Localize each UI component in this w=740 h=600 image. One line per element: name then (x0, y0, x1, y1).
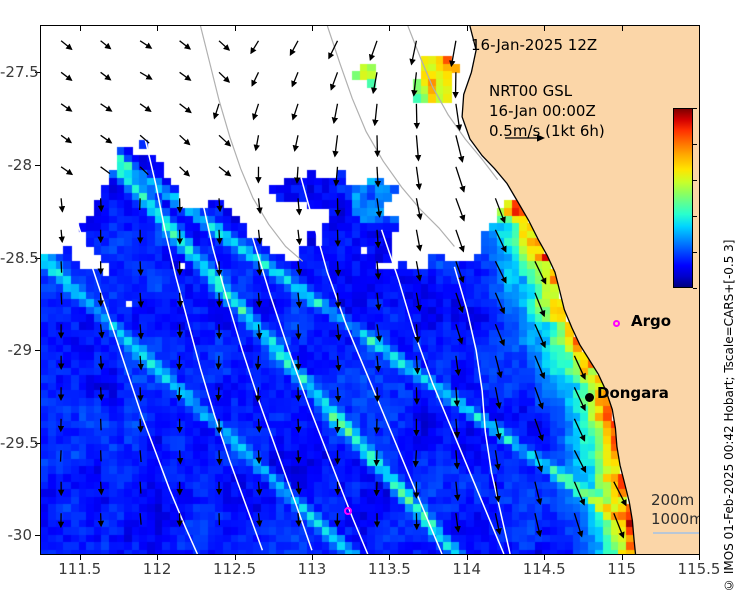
current-vector-arrow (61, 104, 71, 111)
current-vector-arrow (293, 104, 298, 120)
current-vector-arrow (456, 293, 463, 312)
current-vector-arrow (338, 356, 339, 370)
current-vector-arrow (456, 419, 458, 437)
current-vector-arrow (258, 356, 259, 369)
y-axis-label: -29 (0, 341, 32, 359)
current-vector-arrow (574, 419, 584, 441)
colorbar-tick (693, 216, 697, 217)
current-vector-arrow (416, 324, 417, 342)
depth-legend-200m: 200m (651, 491, 694, 510)
x-axis-label: 114.5 (523, 560, 566, 578)
y-axis-label: -28 (0, 156, 32, 174)
current-vector-arrow (298, 198, 299, 214)
y-axis-tick (35, 535, 41, 536)
current-vector-arrow (61, 135, 71, 142)
credit-text: © IMOS 01-Feb-2025 00:42 Hobart; Tscale=… (720, 0, 738, 600)
current-vector-arrow (416, 135, 418, 160)
y-axis-label: -30 (0, 526, 32, 544)
x-axis-label: 114 (452, 560, 481, 578)
x-axis-label: 113.5 (368, 560, 411, 578)
depth-legend-line-shallow (653, 532, 700, 534)
current-vector-arrow (101, 356, 102, 369)
current-vector-arrow (256, 135, 259, 150)
current-vector-arrow (495, 482, 498, 502)
current-vector-arrow (456, 104, 460, 130)
colorbar-tick (693, 108, 697, 109)
current-vector-arrow (456, 356, 459, 375)
current-vector-arrow (416, 198, 420, 219)
current-vector-arrow (412, 41, 417, 64)
current-vector-arrow (140, 41, 151, 48)
current-vector-arrow (219, 230, 220, 244)
current-vector-arrow (290, 41, 298, 55)
y-axis-label: -28.5 (0, 249, 32, 267)
x-axis-label: 112 (143, 560, 172, 578)
current-vector-arrow (218, 356, 219, 369)
current-vector-arrow (614, 482, 626, 506)
current-vector-arrow (535, 324, 545, 347)
current-vector-arrow (298, 450, 299, 462)
current-vector-arrow (574, 482, 584, 505)
current-vector-arrow (180, 72, 191, 80)
current-vector-arrow (456, 324, 462, 343)
current-vector-arrow (336, 167, 338, 185)
current-vector-arrow (101, 513, 102, 526)
x-axis-tick-top (467, 25, 468, 31)
current-vector-arrow (338, 261, 339, 275)
current-vector-arrow (535, 513, 540, 536)
y-axis-tick (35, 350, 41, 351)
current-vector-arrow (61, 293, 62, 305)
current-vector-arrow (61, 72, 71, 80)
current-legend-line1: NRT00 GSL (489, 82, 572, 100)
current-vector-arrow (376, 450, 377, 465)
current-vector-arrow (180, 450, 181, 463)
current-vector-arrow (219, 41, 229, 50)
x-axis-tick-top (235, 25, 236, 31)
argo-float-marker (344, 507, 352, 515)
current-vector-arrow (535, 356, 544, 378)
current-vector-arrow (377, 230, 378, 247)
current-vector-arrow (218, 387, 219, 400)
current-legend-line2: 16-Jan 00:00Z (489, 102, 596, 120)
current-vector-arrow (101, 198, 102, 211)
current-vector-arrow (416, 167, 419, 189)
current-vector-arrow (456, 230, 464, 252)
current-vector-arrow (61, 261, 62, 272)
current-vector-arrow (377, 482, 378, 495)
current-vector-arrow (416, 293, 419, 311)
current-vector-arrow (101, 135, 112, 143)
current-vector-arrow (535, 482, 540, 504)
current-vector-arrow (251, 41, 259, 53)
current-vector-arrow (456, 167, 464, 192)
current-vector-arrow (298, 324, 299, 338)
current-vector-arrow (180, 104, 191, 113)
current-vector-arrow (535, 293, 544, 316)
current-vector-arrow (140, 513, 141, 525)
current-vector-arrow (295, 135, 298, 150)
current-vector-arrow (495, 261, 506, 282)
current-vector-arrow (377, 198, 380, 216)
map-plot-area: 16-Jan-2025 12Z NRT00 GSL 16-Jan 00:00Z … (40, 25, 700, 555)
current-vector-arrow (101, 72, 111, 79)
current-vector-arrow (373, 72, 377, 93)
current-vector-arrow (259, 293, 260, 307)
current-vector-arrow (259, 324, 260, 338)
current-vector-arrow (61, 41, 72, 50)
current-vector-arrow (574, 387, 585, 410)
current-vector-arrow (495, 293, 504, 313)
current-vector-arrow (456, 135, 463, 161)
current-vector-arrow (574, 450, 585, 472)
current-vector-arrow (101, 387, 102, 399)
depth-legend-1000m: 1000m (651, 510, 700, 529)
current-vector-arrow (495, 513, 499, 534)
current-vector-arrow (101, 104, 112, 111)
colorbar-tick (693, 288, 697, 289)
current-vector-arrow (140, 450, 141, 462)
current-vector-arrow (180, 293, 181, 307)
current-vector-arrow (252, 72, 258, 85)
y-axis-tick (35, 165, 41, 166)
current-vector-arrow (298, 482, 299, 494)
x-axis-label: 115 (607, 560, 636, 578)
current-vector-arrow (416, 356, 417, 373)
current-vector-arrow (416, 261, 420, 280)
x-axis-tick-top (544, 25, 545, 31)
current-vector-arrow (140, 356, 141, 369)
current-vector-arrow (214, 104, 219, 118)
dongara-filled-dot-icon (585, 393, 594, 402)
date-stamp: 16-Jan-2025 12Z (471, 36, 597, 54)
colorbar-tick (693, 144, 697, 145)
x-axis-tick-top (312, 25, 313, 31)
current-vector-arrow (535, 387, 543, 408)
current-vector-arrow (259, 450, 260, 463)
current-vector-arrow (495, 356, 501, 377)
current-vector-arrow (61, 230, 62, 242)
current-vector-arrow (101, 419, 102, 431)
x-axis-label: 111.5 (58, 560, 101, 578)
current-vector-arrow (370, 41, 377, 60)
colorbar-gradient (673, 108, 693, 288)
x-axis-tick-top (622, 25, 623, 31)
current-vector-arrow (338, 387, 339, 401)
current-vector-arrow (495, 450, 498, 469)
colorbar-tick (693, 180, 697, 181)
y-axis-label: -27.5 (0, 63, 32, 81)
current-vector-arrow (259, 419, 260, 432)
current-vector-arrow (416, 104, 417, 128)
current-vector-arrow (329, 41, 338, 58)
current-vector-arrow (292, 72, 298, 86)
current-vector-arrow (456, 198, 464, 220)
current-vector-arrow (298, 293, 300, 307)
current-vector-arrow (298, 261, 300, 274)
current-vector-arrow (574, 356, 585, 379)
current-vector-arrow (495, 230, 505, 252)
x-axis-tick-top (389, 25, 390, 31)
current-vector-arrow (259, 198, 261, 213)
current-vector-arrow (377, 387, 378, 401)
current-vector-arrow (377, 135, 378, 156)
current-vector-arrow (416, 450, 417, 466)
current-vector-arrow (614, 513, 624, 537)
current-vector-arrow (61, 198, 62, 211)
current-vector-arrow (416, 230, 420, 251)
current-vector-arrow (219, 198, 220, 211)
current-vector-arrow (140, 72, 152, 79)
x-axis-tick-top (80, 25, 81, 31)
current-vector-arrow (456, 387, 457, 405)
current-vector-arrow (140, 135, 149, 143)
current-vector-arrow (495, 387, 499, 408)
current-vector-arrow (219, 450, 220, 464)
argo-legend-open-circle-icon (613, 320, 620, 327)
current-vector-arrow (140, 167, 148, 175)
current-vector-arrow (61, 167, 72, 175)
current-vector-arrow (377, 356, 379, 371)
current-vector-arrow (377, 293, 379, 310)
current-vector-arrow (377, 261, 379, 278)
current-vector-arrow (259, 482, 260, 495)
current-vector-arrow (456, 482, 458, 500)
current-vector-arrow (179, 387, 180, 400)
current-vector-arrow (377, 324, 380, 341)
current-vector-arrow (180, 135, 190, 144)
current-vector-arrow (101, 482, 102, 494)
x-axis-label: 115.5 (678, 560, 721, 578)
current-vector-arrow (180, 41, 190, 49)
current-vector-arrow (495, 324, 504, 345)
current-vector-arrow (140, 104, 151, 111)
current-vector-arrow (416, 387, 417, 403)
current-vector-arrow (495, 198, 504, 222)
current-vector-arrow (535, 261, 546, 283)
current-vector-arrow (259, 230, 261, 244)
current-vector-arrow (456, 513, 458, 531)
current-vector-arrow (338, 324, 339, 340)
dongara-label: Dongara (597, 384, 669, 402)
current-vector-arrow (259, 261, 260, 274)
current-vector-arrow (219, 135, 230, 145)
y-axis-label: -29.5 (0, 434, 32, 452)
argo-legend-label: Argo (631, 312, 671, 330)
current-vector-arrow (375, 104, 377, 125)
current-vector-arrow (140, 293, 141, 307)
current-vector-arrow (414, 72, 417, 95)
current-vector-arrow (140, 324, 141, 338)
current-vector-arrow (140, 387, 141, 400)
current-vector-arrow (61, 450, 62, 461)
current-vector-arrow (334, 104, 338, 123)
x-axis-tick-top (157, 25, 158, 31)
colorbar-tick (693, 252, 697, 253)
current-vector-arrow (140, 419, 141, 432)
current-vector-arrow (101, 450, 102, 461)
current-vector-arrow (456, 450, 457, 468)
current-vector-arrow (335, 135, 338, 156)
current-vector-arrow (535, 419, 543, 440)
current-vector-arrow (140, 482, 141, 494)
current-vector-arrow (451, 41, 456, 66)
current-vector-arrow (180, 167, 190, 176)
right-arrow-icon (503, 131, 547, 145)
current-vector-arrow (338, 293, 339, 308)
current-vector-arrow (140, 261, 141, 274)
current-vector-arrow (298, 513, 299, 526)
current-vector-arrow (377, 167, 378, 186)
x-axis-label: 112.5 (213, 560, 256, 578)
x-axis-tick-top (699, 25, 700, 31)
current-vector-arrow (298, 419, 299, 432)
current-vector-arrow (535, 450, 542, 471)
current-vector-arrow (259, 513, 260, 526)
x-axis-label: 113 (298, 560, 327, 578)
current-vector-arrow (495, 419, 499, 439)
current-vector-arrow (219, 72, 229, 82)
current-vector-arrow (297, 167, 298, 183)
current-vector-arrow (101, 41, 111, 49)
current-vector-arrow (101, 324, 102, 337)
current-vector-arrow (574, 513, 581, 536)
current-vector-arrow (456, 261, 463, 282)
current-vector-arrow (331, 72, 337, 89)
current-vector-arrow (258, 387, 259, 401)
current-vector-arrow (219, 167, 230, 176)
current-vector-arrow (254, 104, 259, 119)
current-vector-arrow (298, 230, 300, 244)
current-vector-arrow (101, 167, 110, 174)
